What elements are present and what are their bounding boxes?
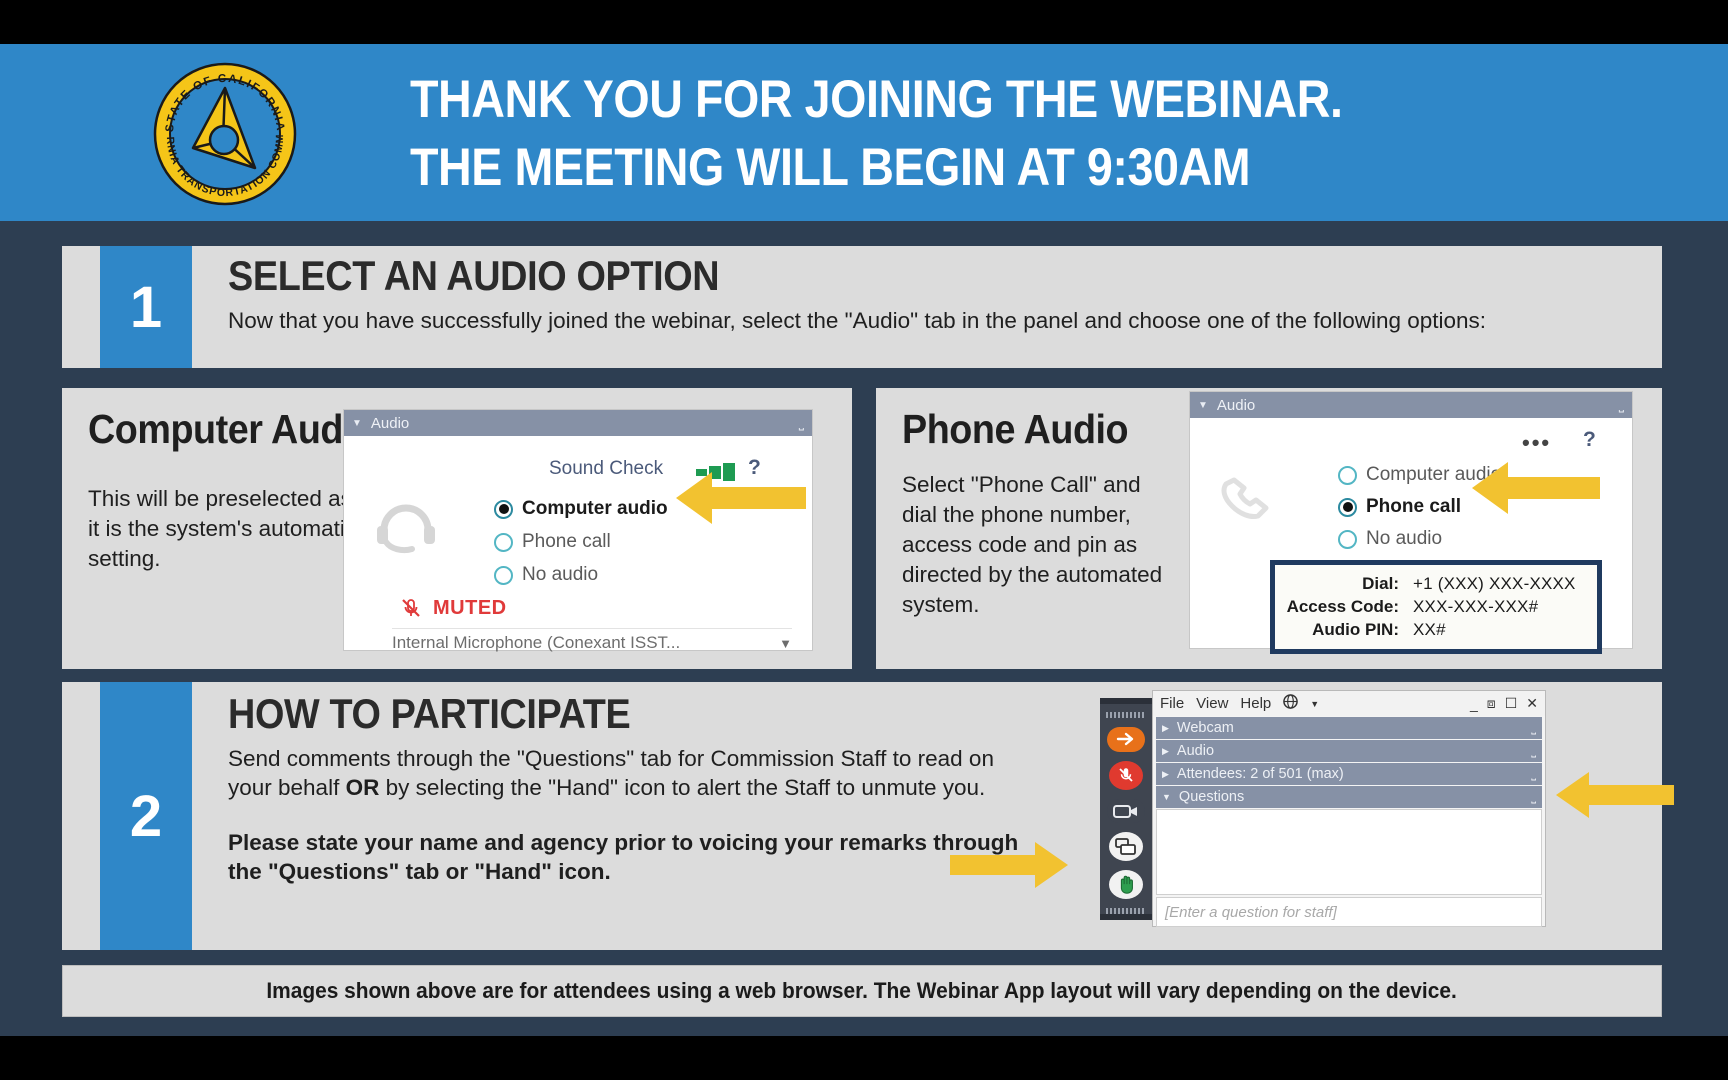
step-2-gutter xyxy=(62,682,100,950)
gotowebinar-audio-widget-computer: ▼ Audio ⎵ Sound Check ? Compute xyxy=(344,410,812,650)
radio-icon xyxy=(1338,466,1357,485)
step-1-gutter xyxy=(62,246,100,368)
header-line-2-prefix: THE MEETING WILL BEGIN AT xyxy=(410,138,1074,197)
chevron-down-icon: ▼ xyxy=(779,636,792,651)
microphone-select[interactable]: Internal Microphone (Conexant ISST... ▼ xyxy=(392,628,792,653)
control-panel-rail xyxy=(1100,698,1152,920)
restore-icon[interactable]: ⧈ xyxy=(1487,695,1496,712)
radio-label-no-audio: No audio xyxy=(522,564,598,586)
mic-muted-icon[interactable] xyxy=(1109,761,1143,790)
step-2-paragraph-1: Send comments through the "Questions" ta… xyxy=(228,744,1018,802)
step-2-paragraph-2: Please state your name and agency prior … xyxy=(228,828,1058,886)
state-seal-logo: STATE OF CALIFORNIA CALIFORNIA TRANSPORT… xyxy=(125,58,325,208)
panel-row-label: Audio xyxy=(1177,743,1214,759)
phone-audio-copy: Select "Phone Call" and dial the phone n… xyxy=(902,470,1177,620)
phone-handset-icon xyxy=(1216,472,1286,530)
meeting-start-time: 9:30AM xyxy=(1087,138,1250,197)
mic-muted-icon xyxy=(399,596,423,620)
pointer-arrow-questions-tab xyxy=(1556,770,1674,820)
chevron-right-icon: ▶ xyxy=(1162,769,1169,780)
questions-list xyxy=(1156,809,1542,895)
control-panel-window: File View Help ▼ _ ⧈ ☐ ✕ ▶ Webcam ⎵ xyxy=(1152,690,1546,927)
emphasis-or: OR xyxy=(346,775,380,800)
radio-no-audio[interactable]: No audio xyxy=(494,564,598,586)
panel-row-label: Webcam xyxy=(1177,720,1234,736)
dial-row: Audio PIN: XX# xyxy=(1285,618,1585,641)
step-1-title: SELECT AN AUDIO OPTION xyxy=(228,252,1519,300)
radio-icon-selected xyxy=(494,500,513,519)
radio-label-phone-call: Phone call xyxy=(1366,496,1461,518)
gotowebinar-control-panel: File View Help ▼ _ ⧈ ☐ ✕ ▶ Webcam ⎵ xyxy=(1100,690,1546,927)
popout-icon[interactable]: ⎵ xyxy=(799,415,804,431)
headset-icon xyxy=(372,496,440,556)
chevron-down-icon: ▼ xyxy=(1198,400,1208,411)
dial-row: Dial: +1 (XXX) XXX-XXXX xyxy=(1285,572,1585,595)
audio-pane-titlebar[interactable]: ▼ Audio ⎵ xyxy=(344,410,812,436)
footer-note-bar: Images shown above are for attendees usi… xyxy=(62,965,1662,1017)
header-title-block: THANK YOU FOR JOINING THE WEBINAR. THE M… xyxy=(410,66,1660,202)
computer-audio-card: Computer Audio This will be preselected … xyxy=(62,388,852,669)
screen-share-icon[interactable] xyxy=(1109,832,1143,861)
header-line-2: THE MEETING WILL BEGIN AT 9:30AM xyxy=(410,134,1510,202)
pointer-arrow-computer-audio xyxy=(676,470,806,526)
drag-grip-icon[interactable] xyxy=(1106,712,1146,718)
raise-hand-icon[interactable] xyxy=(1109,870,1143,899)
chevron-down-icon[interactable]: ▼ xyxy=(1310,699,1319,709)
popout-icon[interactable]: ⎵ xyxy=(1531,744,1536,759)
menu-view[interactable]: View xyxy=(1196,695,1228,712)
panel-row-webcam[interactable]: ▶ Webcam ⎵ xyxy=(1156,717,1542,739)
muted-label: MUTED xyxy=(433,597,507,620)
radio-phone-call[interactable]: Phone call xyxy=(1338,496,1461,518)
popout-icon[interactable]: ⎵ xyxy=(1531,767,1536,782)
audio-pane-title: Audio xyxy=(1217,397,1255,414)
computer-audio-copy: This will be preselected as it is the sy… xyxy=(88,484,368,574)
muted-status: MUTED xyxy=(399,596,507,620)
sound-check-label[interactable]: Sound Check xyxy=(549,458,663,480)
maximize-icon[interactable]: ☐ xyxy=(1505,695,1518,712)
radio-icon xyxy=(494,566,513,585)
close-icon[interactable]: ✕ xyxy=(1526,695,1538,712)
chevron-right-icon: ▶ xyxy=(1162,746,1169,757)
access-code-value: XXX-XXX-XXX# xyxy=(1413,595,1538,618)
radio-icon xyxy=(1338,530,1357,549)
audio-pin-value: XX# xyxy=(1413,618,1446,641)
dial-row: Access Code: XXX-XXX-XXX# xyxy=(1285,595,1585,618)
step-1-subtitle: Now that you have successfully joined th… xyxy=(228,305,1488,336)
pointer-arrow-phone-call xyxy=(1472,460,1600,516)
menu-help[interactable]: Help xyxy=(1240,695,1271,712)
radio-icon xyxy=(494,533,513,552)
menu-file[interactable]: File xyxy=(1160,695,1184,712)
header-line-1: THANK YOU FOR JOINING THE WEBINAR. xyxy=(410,66,1510,134)
popout-icon[interactable]: ⎵ xyxy=(1531,790,1536,805)
webcam-icon[interactable] xyxy=(1107,799,1145,824)
slide: STATE OF CALIFORNIA CALIFORNIA TRANSPORT… xyxy=(0,0,1728,1080)
radio-label-computer-audio: Computer audio xyxy=(522,498,668,520)
footer-note: Images shown above are for attendees usi… xyxy=(267,978,1457,1004)
radio-label-no-audio: No audio xyxy=(1366,528,1442,550)
panel-row-attendees[interactable]: ▶ Attendees: 2 of 501 (max) ⎵ xyxy=(1156,763,1542,785)
question-input[interactable]: [Enter a question for staff] xyxy=(1156,897,1542,927)
popout-icon[interactable]: ⎵ xyxy=(1531,721,1536,736)
overflow-menu-icon[interactable]: ••• xyxy=(1522,430,1551,456)
chevron-down-icon: ▼ xyxy=(352,418,362,429)
drag-grip-icon[interactable] xyxy=(1106,908,1146,914)
step-1-band: 1 SELECT AN AUDIO OPTION Now that you ha… xyxy=(62,246,1662,368)
computer-audio-title: Computer Audio xyxy=(88,406,376,453)
popout-icon[interactable]: ⎵ xyxy=(1619,397,1624,413)
step-2-number: 2 xyxy=(100,682,192,950)
window-controls: _ ⧈ ☐ ✕ xyxy=(1470,695,1538,712)
audio-pane-titlebar[interactable]: ▼ Audio ⎵ xyxy=(1190,392,1632,418)
header-banner: STATE OF CALIFORNIA CALIFORNIA TRANSPORT… xyxy=(0,44,1728,221)
radio-no-audio[interactable]: No audio xyxy=(1338,528,1442,550)
radio-computer-audio[interactable]: Computer audio xyxy=(494,498,668,520)
microphone-device-name: Internal Microphone (Conexant ISST... xyxy=(392,633,680,653)
radio-label-phone-call: Phone call xyxy=(522,531,611,553)
dial-in-info-box: Dial: +1 (XXX) XXX-XXXX Access Code: XXX… xyxy=(1270,560,1602,654)
control-panel-menubar: File View Help ▼ _ ⧈ ☐ ✕ xyxy=(1153,691,1545,716)
access-code-key: Access Code: xyxy=(1285,595,1413,618)
dial-value: +1 (XXX) XXX-XXXX xyxy=(1413,572,1576,595)
phone-audio-title: Phone Audio xyxy=(902,406,1128,453)
arrow-right-icon[interactable] xyxy=(1107,727,1145,752)
panel-row-label: Attendees: 2 of 501 (max) xyxy=(1177,766,1344,782)
phone-audio-card: Phone Audio Select "Phone Call" and dial… xyxy=(876,388,1662,669)
panel-row-audio[interactable]: ▶ Audio ⎵ xyxy=(1156,740,1542,762)
panel-row-label: Questions xyxy=(1179,789,1244,805)
panel-row-questions[interactable]: ▼ Questions ⎵ xyxy=(1156,786,1542,808)
audio-pin-key: Audio PIN: xyxy=(1285,618,1413,641)
gotowebinar-audio-widget-phone: ▼ Audio ⎵ ••• ? Computer audio Phone cal… xyxy=(1190,392,1632,648)
pointer-arrow-hand-icon xyxy=(950,840,1068,890)
globe-icon[interactable] xyxy=(1283,694,1298,713)
chevron-down-icon: ▼ xyxy=(1162,792,1171,802)
help-icon[interactable]: ? xyxy=(1583,428,1596,452)
dial-key: Dial: xyxy=(1285,572,1413,595)
step-1-content: SELECT AN AUDIO OPTION Now that you have… xyxy=(192,246,1662,368)
radio-icon-selected xyxy=(1338,498,1357,517)
chevron-right-icon: ▶ xyxy=(1162,723,1169,734)
minimize-icon[interactable]: _ xyxy=(1470,696,1478,712)
radio-phone-call[interactable]: Phone call xyxy=(494,531,611,553)
audio-pane-title: Audio xyxy=(371,415,409,432)
step-1-number: 1 xyxy=(100,246,192,368)
